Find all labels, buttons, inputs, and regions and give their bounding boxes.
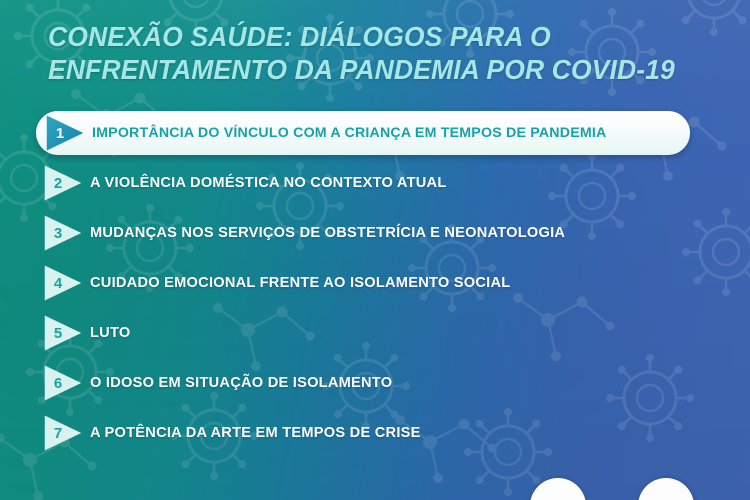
logo-circle-left xyxy=(530,478,586,500)
triangle-shape xyxy=(44,364,82,402)
topic-item-3[interactable]: 3 MUDANÇAS NOS SERVIÇOS DE OBSTETRÍCIA E… xyxy=(0,208,750,258)
topic-number: 4 xyxy=(54,276,62,291)
topic-number: 5 xyxy=(54,326,62,341)
bottom-logo-strip xyxy=(0,466,750,500)
arrow-marker-icon: 3 xyxy=(44,214,82,252)
topic-label: CUIDADO EMOCIONAL FRENTE AO ISOLAMENTO S… xyxy=(90,275,510,291)
triangle-shape xyxy=(46,114,84,152)
page-title: CONEXÃO SAÚDE: DIÁLOGOS PARA O ENFRENTAM… xyxy=(48,20,714,86)
topic-item-4[interactable]: 4 CUIDADO EMOCIONAL FRENTE AO ISOLAMENTO… xyxy=(0,258,750,308)
logo-circle-right xyxy=(638,478,694,500)
topic-label: A VIOLÊNCIA DOMÉSTICA NO CONTEXTO ATUAL xyxy=(90,175,447,191)
triangle-shape xyxy=(44,314,82,352)
arrow-marker-icon: 1 xyxy=(46,114,84,152)
topic-item-5[interactable]: 5 LUTO xyxy=(0,308,750,358)
triangle-shape xyxy=(44,264,82,302)
topic-number: 6 xyxy=(54,376,62,391)
topic-label: LUTO xyxy=(90,325,130,341)
arrow-marker-icon: 2 xyxy=(44,164,82,202)
arrow-marker-icon: 7 xyxy=(44,414,82,452)
topic-number: 2 xyxy=(54,176,62,191)
triangle-shape xyxy=(44,214,82,252)
topic-label: MUDANÇAS NOS SERVIÇOS DE OBSTETRÍCIA E N… xyxy=(90,225,565,241)
topic-list: 1 IMPORTÂNCIA DO VÍNCULO COM A CRIANÇA E… xyxy=(0,108,750,458)
topic-number: 3 xyxy=(54,226,62,241)
topic-label: IMPORTÂNCIA DO VÍNCULO COM A CRIANÇA EM … xyxy=(92,125,606,141)
arrow-marker-icon: 6 xyxy=(44,364,82,402)
topic-item-1[interactable]: 1 IMPORTÂNCIA DO VÍNCULO COM A CRIANÇA E… xyxy=(0,108,750,158)
topic-number: 1 xyxy=(56,126,64,141)
topic-label: O IDOSO EM SITUAÇÃO DE ISOLAMENTO xyxy=(90,375,392,391)
topic-label: A POTÊNCIA DA ARTE EM TEMPOS DE CRISE xyxy=(90,425,421,441)
topic-item-6[interactable]: 6 O IDOSO EM SITUAÇÃO DE ISOLAMENTO xyxy=(0,358,750,408)
poster-canvas: CONEXÃO SAÚDE: DIÁLOGOS PARA O ENFRENTAM… xyxy=(0,0,750,500)
topic-item-2[interactable]: 2 A VIOLÊNCIA DOMÉSTICA NO CONTEXTO ATUA… xyxy=(0,158,750,208)
arrow-marker-icon: 5 xyxy=(44,314,82,352)
triangle-shape xyxy=(44,164,82,202)
triangle-shape xyxy=(44,414,82,452)
arrow-marker-icon: 4 xyxy=(44,264,82,302)
topic-item-7[interactable]: 7 A POTÊNCIA DA ARTE EM TEMPOS DE CRISE xyxy=(0,408,750,458)
topic-number: 7 xyxy=(54,426,62,441)
